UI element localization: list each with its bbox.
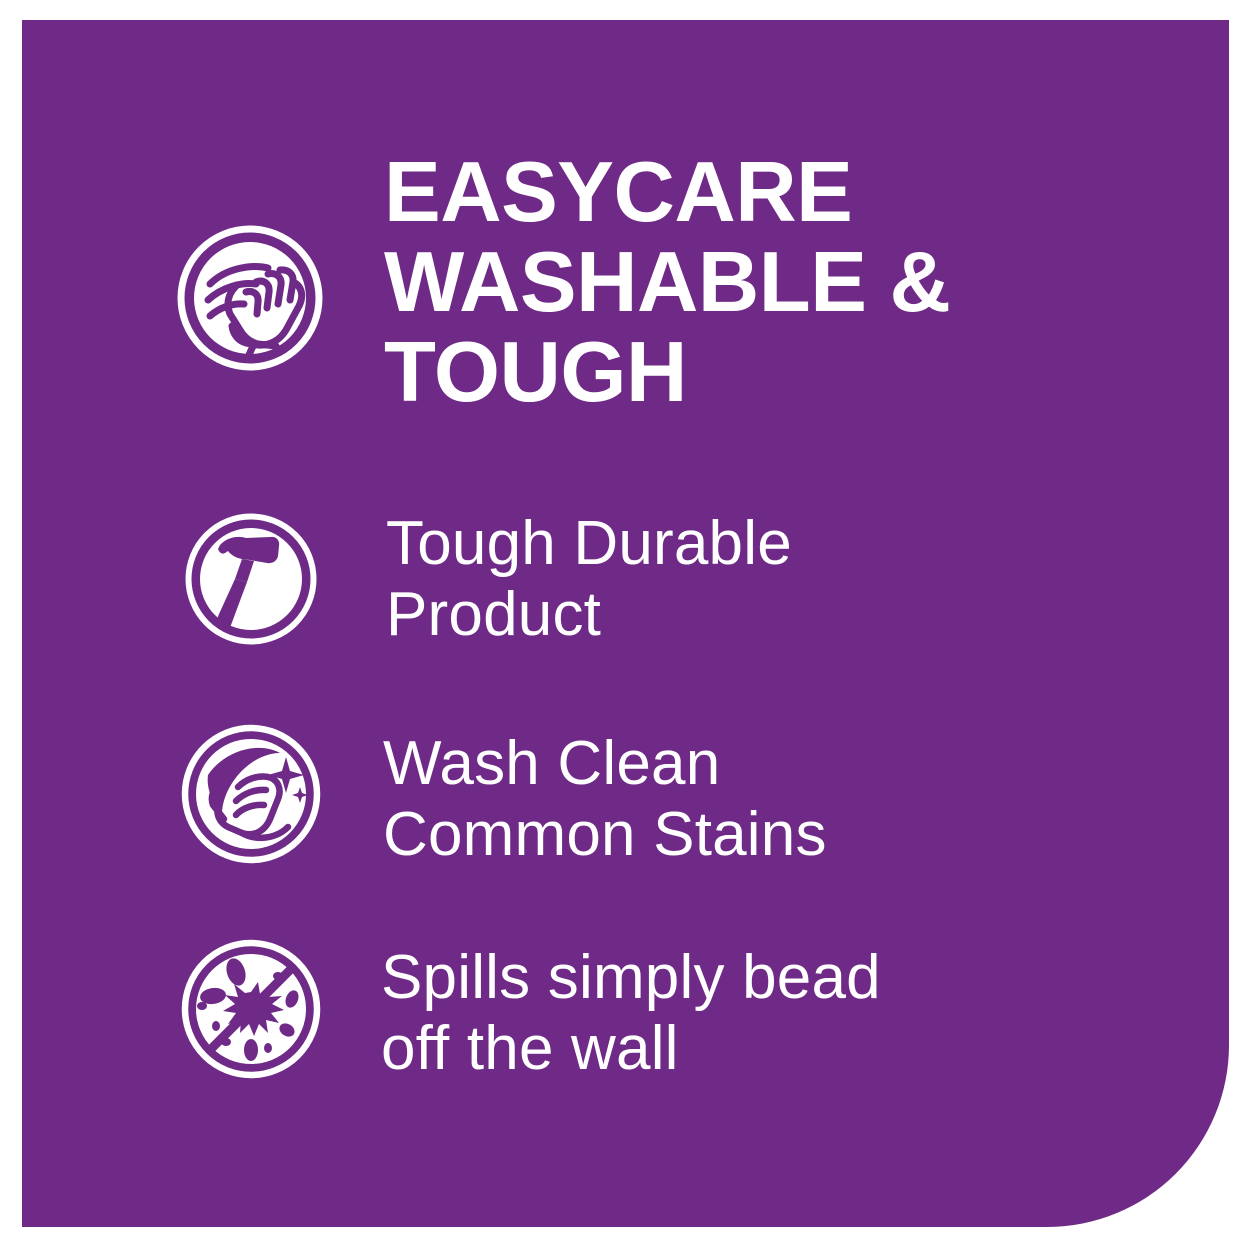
feature-label-3: Spills simply bead off the wall	[381, 942, 881, 1085]
feature-row-washclean-icon	[180, 723, 322, 865]
hand-wiping-sparkle-icon	[180, 723, 322, 865]
feature-label-2: Wash Clean Common Stains	[383, 728, 827, 871]
feature-text-washclean: Wash Clean Common Stains	[383, 728, 827, 871]
washing-hands-icon	[176, 224, 324, 372]
feature-label-1: Tough Durable Product	[386, 508, 792, 651]
feature-row-spills-icon	[180, 938, 322, 1080]
feature-text-spills: Spills simply bead off the wall	[381, 942, 881, 1085]
feature-row-washable	[176, 224, 324, 372]
feature-row-durable-icon	[184, 512, 318, 646]
no-stain-splatter-icon	[180, 938, 322, 1080]
feature-text-durable: Tough Durable Product	[386, 508, 792, 651]
page-title: EASYCARE WASHABLE & TOUGH	[384, 148, 1084, 418]
poster-root: EASYCARE WASHABLE & TOUGH	[0, 0, 1250, 1250]
hammer-icon	[184, 512, 318, 646]
